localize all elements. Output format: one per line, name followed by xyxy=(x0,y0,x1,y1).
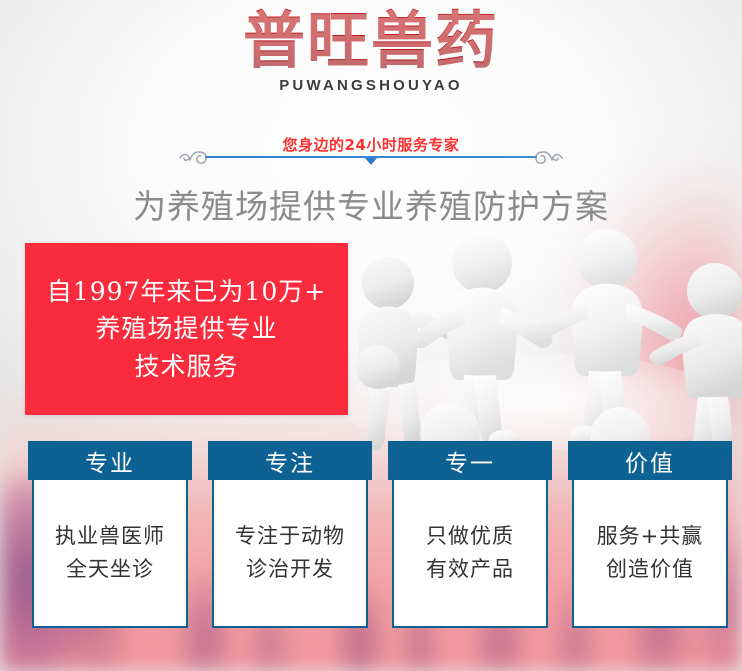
feature-card-title: 专业 xyxy=(28,441,192,480)
feature-card-body: 执业兽医师 全天坐诊 xyxy=(32,480,188,628)
figures-illustration xyxy=(330,215,742,450)
feature-card-line: 诊治开发 xyxy=(246,553,334,586)
slogan-text: 您身边的24小时服务专家 xyxy=(0,134,742,155)
page-tagline: 为养殖场提供专业养殖防护方案 xyxy=(0,180,742,228)
logo-pinyin: PUWANGSHOUYAO xyxy=(0,77,742,94)
feature-card-title: 价值 xyxy=(568,441,732,480)
feature-card-body: 专注于动物 诊治开发 xyxy=(212,480,368,628)
feature-card-title: 专一 xyxy=(388,441,552,480)
feature-card-line: 全天坐诊 xyxy=(66,553,154,586)
feature-card[interactable]: 专业 执业兽医师 全天坐诊 xyxy=(28,441,192,632)
feature-card[interactable]: 专注 专注于动物 诊治开发 xyxy=(208,441,372,632)
feature-card-line: 有效产品 xyxy=(426,553,514,586)
feature-card-title: 专注 xyxy=(208,441,372,480)
logo: 普旺兽药 PUWANGSHOUYAO xyxy=(0,8,742,94)
promo-banner: 普旺兽药 PUWANGSHOUYAO 您身边的24小时服务专家 为养殖 xyxy=(0,0,742,671)
feature-card-line: 专注于动物 xyxy=(235,520,345,553)
feature-card[interactable]: 专一 只做优质 有效产品 xyxy=(388,441,552,632)
feature-card-body: 只做优质 有效产品 xyxy=(392,480,548,628)
feature-card-line: 服务+共赢 xyxy=(597,520,704,553)
feature-card-list: 专业 执业兽医师 全天坐诊 专注 专注于动物 诊治开发 专一 只做优质 有效产品… xyxy=(0,441,742,633)
divider-arrow-icon xyxy=(365,158,377,165)
red-banner-line-2: 养殖场提供专业 xyxy=(95,310,277,348)
red-highlight-banner: 自1997年来已为10万+ 养殖场提供专业 技术服务 xyxy=(25,243,348,415)
feature-card-line: 只做优质 xyxy=(426,520,514,553)
feature-card-line: 执业兽医师 xyxy=(55,520,165,553)
logo-chinese-name: 普旺兽药 xyxy=(0,8,742,73)
slogan-divider: 您身边的24小时服务专家 xyxy=(0,134,742,174)
red-banner-line-3: 技术服务 xyxy=(134,348,238,386)
feature-card[interactable]: 价值 服务+共赢 创造价值 xyxy=(568,441,732,632)
feature-card-line: 创造价值 xyxy=(606,553,694,586)
red-banner-line-1: 自1997年来已为10万+ xyxy=(47,273,326,311)
feature-card-body: 服务+共赢 创造价值 xyxy=(572,480,728,628)
